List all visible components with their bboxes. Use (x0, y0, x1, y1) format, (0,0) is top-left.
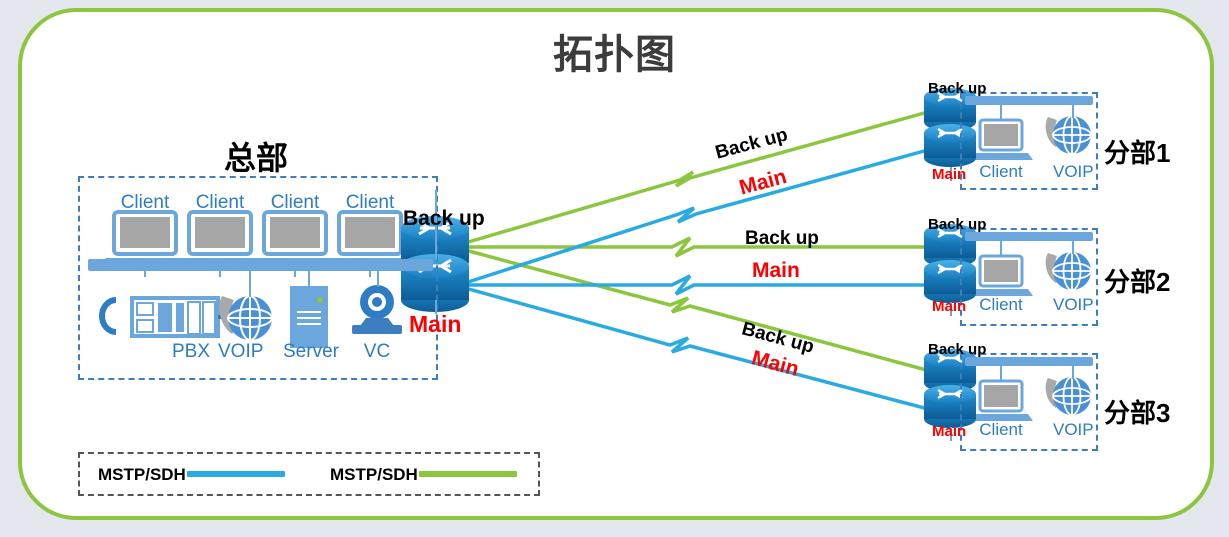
branch-3-device-label-client: Client (977, 420, 1025, 439)
drop-line (144, 267, 146, 277)
hq-client-label-4: Client (341, 192, 399, 213)
topology-diagram-canvas: 拓扑图 (0, 0, 1229, 537)
drop-line (308, 269, 310, 287)
branch-1-title: 分部1 (1104, 133, 1170, 170)
legend-label-backup: MSTP/SDH (330, 465, 418, 485)
drop-line (1000, 104, 1002, 121)
branch-2-router-backup-label: Back up (928, 216, 986, 233)
drop-line (1000, 240, 1002, 257)
page-title: 拓扑图 (0, 22, 1229, 80)
drop-line (369, 267, 371, 277)
headquarters-lan-bus (88, 259, 433, 271)
hq-router-main-label: Main (409, 311, 461, 338)
branch-3-title: 分部3 (1104, 393, 1170, 430)
hq-device-label-voip: VOIP (218, 341, 262, 362)
branch-1-device-label-client: Client (977, 162, 1025, 181)
hq-device-label-server: Server (283, 341, 335, 362)
branch-3-router-backup-label: Back up (928, 341, 986, 358)
drop-line (219, 267, 221, 277)
branch-1-router-backup-label: Back up (928, 80, 986, 97)
drop-line (1072, 365, 1074, 379)
drop-line (294, 267, 296, 277)
drop-line (377, 269, 379, 287)
legend-label-main: MSTP/SDH (98, 465, 186, 485)
branch-2-title: 分部2 (1104, 262, 1170, 299)
branch-1-device-label-voip: VOIP (1053, 162, 1091, 181)
branch-2-device-label-client: Client (977, 295, 1025, 314)
drop-line (1072, 104, 1074, 118)
link-label-main-branch-2: Main (752, 259, 800, 283)
drop-line (249, 269, 251, 297)
link-label-backup-branch-2: Back up (745, 228, 819, 250)
legend-swatch-backup (419, 471, 517, 477)
branch-2-router-main-label: Main (932, 298, 966, 315)
hq-device-label-vc: VC (355, 341, 399, 362)
drop-line (1072, 240, 1074, 254)
drop-line (1000, 365, 1002, 382)
hq-client-label-2: Client (191, 192, 249, 213)
branch-2-device-label-voip: VOIP (1053, 295, 1091, 314)
branch-3-router-main-label: Main (932, 423, 966, 440)
branch-1-router-main-label: Main (932, 166, 966, 183)
hq-router-backup-label: Back up (403, 207, 485, 231)
legend-swatch-main (187, 471, 285, 477)
hq-client-label-3: Client (266, 192, 324, 213)
headquarters-title: 总部 (224, 133, 288, 179)
hq-client-label-1: Client (116, 192, 174, 213)
branch-3-device-label-voip: VOIP (1053, 420, 1091, 439)
